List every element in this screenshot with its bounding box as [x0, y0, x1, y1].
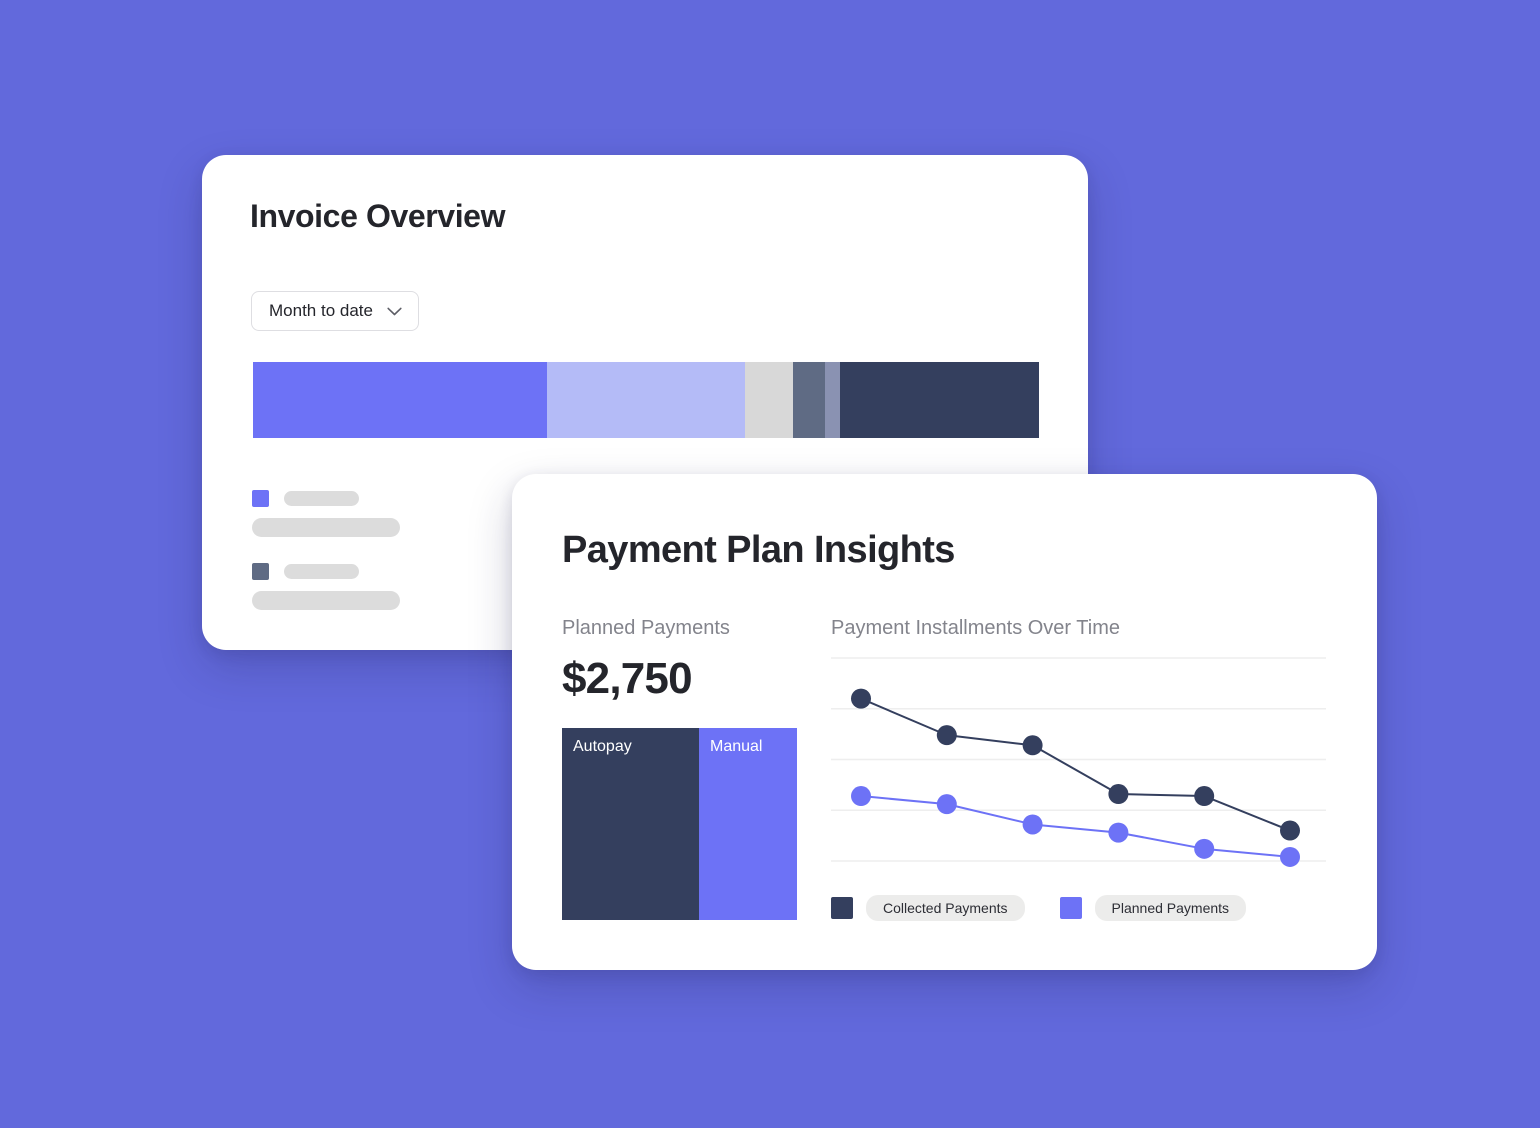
skeleton-label	[284, 564, 359, 579]
chart-point[interactable]	[851, 689, 871, 709]
chart-point[interactable]	[1194, 786, 1214, 806]
chart-title: Payment Installments Over Time	[831, 617, 1120, 640]
date-range-select[interactable]: Month to date	[251, 291, 419, 331]
chart-legend: Collected PaymentsPlanned Payments	[831, 895, 1246, 921]
chart-point[interactable]	[1280, 847, 1300, 867]
split-bar-manual: Manual	[699, 728, 797, 920]
legend-item[interactable]: Planned Payments	[1060, 895, 1247, 921]
legend-label: Planned Payments	[1095, 895, 1247, 921]
stacked-bar-segment-2	[547, 362, 745, 438]
chart-point[interactable]	[851, 786, 871, 806]
chart-point[interactable]	[1108, 823, 1128, 843]
chart-point[interactable]	[1023, 814, 1043, 834]
payment-installments-line-chart	[831, 652, 1326, 867]
legend-item[interactable]: Collected Payments	[831, 895, 1025, 921]
split-bar-autopay: Autopay	[562, 728, 699, 920]
payment-method-split-bars: AutopayManual	[562, 728, 797, 920]
split-bar-label: Manual	[710, 738, 762, 756]
chart-point[interactable]	[1023, 735, 1043, 755]
chart-point[interactable]	[937, 794, 957, 814]
invoice-status-stacked-bar	[253, 362, 1039, 438]
payment-plan-insights-card: Payment Plan Insights Planned Payments $…	[512, 474, 1377, 970]
legend-swatch-icon	[1060, 897, 1082, 919]
stacked-bar-segment-6	[840, 362, 1039, 438]
chevron-down-icon	[387, 307, 402, 316]
chart-point[interactable]	[1280, 821, 1300, 841]
insights-title: Payment Plan Insights	[562, 529, 955, 572]
stacked-bar-segment-3	[745, 362, 793, 438]
chart-point[interactable]	[1194, 839, 1214, 859]
stacked-bar-segment-5	[825, 362, 840, 438]
planned-payments-amount: $2,750	[562, 654, 692, 704]
legend-swatch-icon	[252, 563, 269, 580]
stacked-bar-segment-4	[793, 362, 825, 438]
legend-label: Collected Payments	[866, 895, 1025, 921]
chart-point[interactable]	[937, 725, 957, 745]
split-bar-label: Autopay	[573, 738, 632, 756]
date-range-value: Month to date	[269, 301, 373, 321]
chart-point[interactable]	[1108, 784, 1128, 804]
legend-swatch-icon	[252, 490, 269, 507]
legend-swatch-icon	[831, 897, 853, 919]
skeleton-value	[252, 518, 400, 537]
skeleton-value	[252, 591, 400, 610]
skeleton-label	[284, 491, 359, 506]
stacked-bar-segment-1	[253, 362, 547, 438]
page-title: Invoice Overview	[250, 198, 505, 235]
planned-payments-label: Planned Payments	[562, 617, 730, 640]
